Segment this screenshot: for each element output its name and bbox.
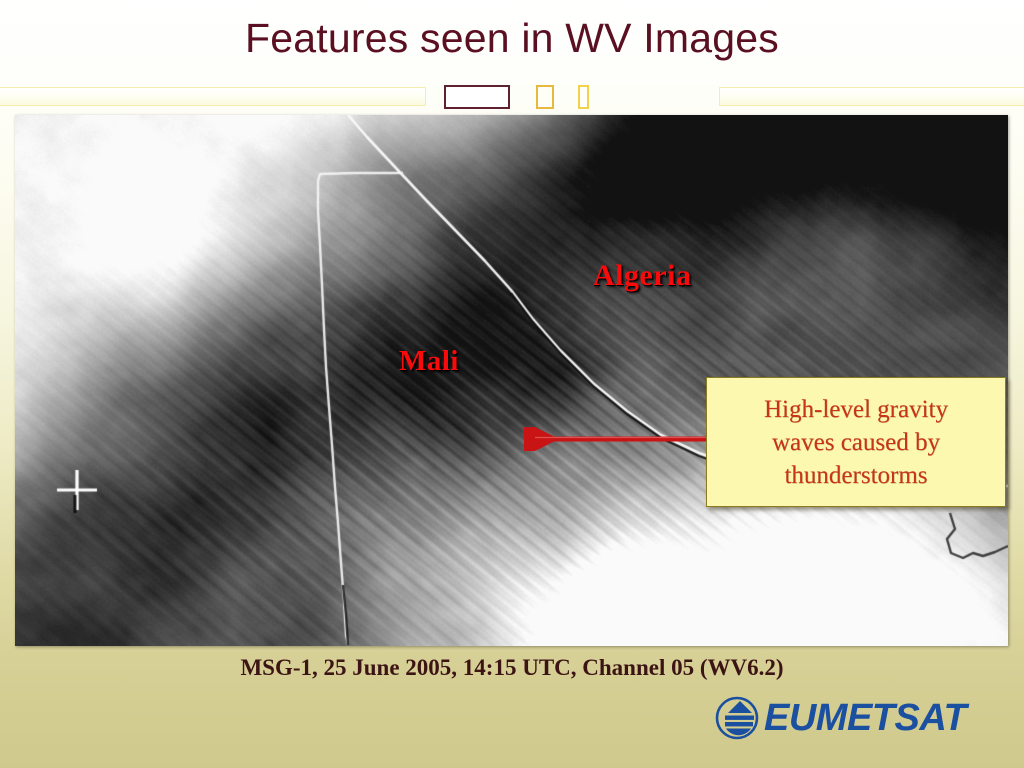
annotation-callout-text: High-level gravity waves caused by thund… — [754, 393, 958, 492]
slide-canvas: Features seen in WV Images Algeria Mali … — [0, 0, 1024, 768]
decorative-bar-left — [0, 87, 426, 106]
page-title: Features seen in WV Images — [0, 14, 1024, 62]
eumetsat-globe-icon — [714, 695, 760, 741]
callout-line-3: thunderstorms — [784, 462, 927, 489]
map-label-algeria: Algeria — [593, 259, 691, 293]
decorative-bar-right — [719, 87, 1024, 106]
image-caption: MSG-1, 25 June 2005, 14:15 UTC, Channel … — [0, 655, 1024, 681]
decorative-rect-small — [578, 85, 589, 109]
callout-line-1: High-level gravity — [764, 396, 948, 423]
annotation-callout-box: High-level gravity waves caused by thund… — [706, 377, 1006, 507]
eumetsat-logo: EUMETSAT — [714, 692, 984, 744]
decorative-rect-main — [444, 85, 510, 109]
map-label-mali: Mali — [399, 345, 459, 378]
annotation-arrow-icon — [515, 427, 715, 451]
eumetsat-wordmark: EUMETSAT — [764, 695, 966, 741]
callout-line-2: waves caused by — [772, 429, 940, 456]
decorative-rect-mid — [536, 85, 554, 109]
decorative-divider — [0, 83, 1024, 109]
